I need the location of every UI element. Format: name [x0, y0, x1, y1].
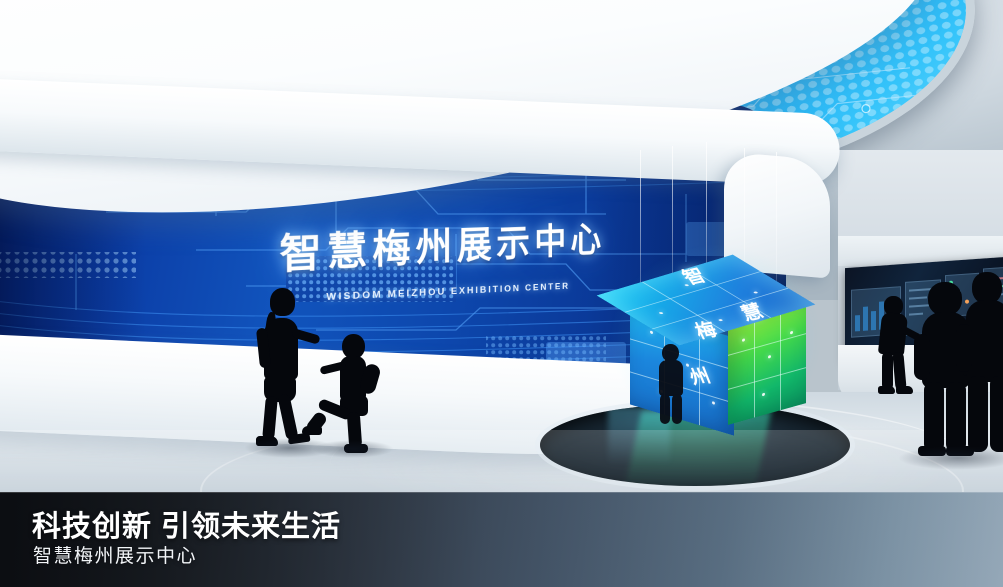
- child-silhouette-walking: [322, 334, 388, 450]
- child-floor-shadow: [312, 440, 394, 458]
- caption-bar: 科技创新 引领未来生活 智慧梅州展示中心: [0, 492, 1003, 587]
- caption-top-edge: [0, 492, 1003, 493]
- caption-subtitle: 智慧梅州展示中心: [33, 541, 197, 568]
- visitor-silhouette-at-screen: [874, 296, 914, 396]
- rubiks-cube-led-display: 智 慧 梅 州: [624, 252, 804, 424]
- visitor-silhouette-at-cube: [654, 344, 688, 426]
- exhibition-hall-render: 智慧梅州展示中心 WISDOM MEIZHOU EXHIBITION CENTE…: [0, 0, 1003, 587]
- visitor-silhouette-rightmost: [962, 272, 1003, 462]
- caption-title: 科技创新 引领未来生活: [32, 503, 341, 545]
